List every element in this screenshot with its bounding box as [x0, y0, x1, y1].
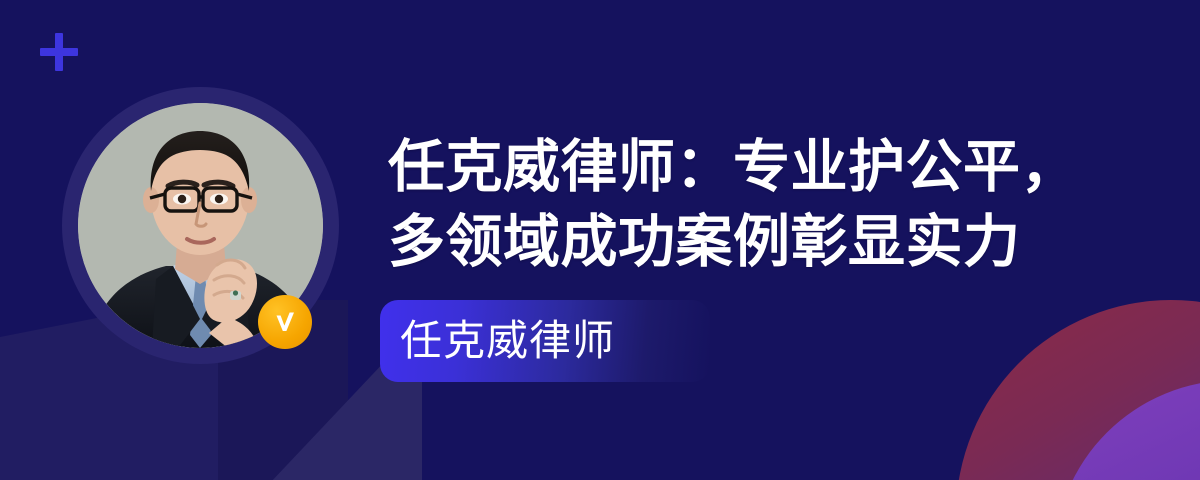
promo-banner: 任克威律师 任克威律师：专业护公平，多领域成功案例彰显实力 — [0, 0, 1200, 480]
avatar — [62, 87, 339, 364]
verified-badge-icon — [258, 295, 312, 349]
plus-icon — [40, 33, 78, 71]
lawyer-name-label: 任克威律师 — [400, 316, 615, 366]
page-title: 任克威律师：专业护公平，多领域成功案例彰显实力 — [388, 130, 1088, 279]
